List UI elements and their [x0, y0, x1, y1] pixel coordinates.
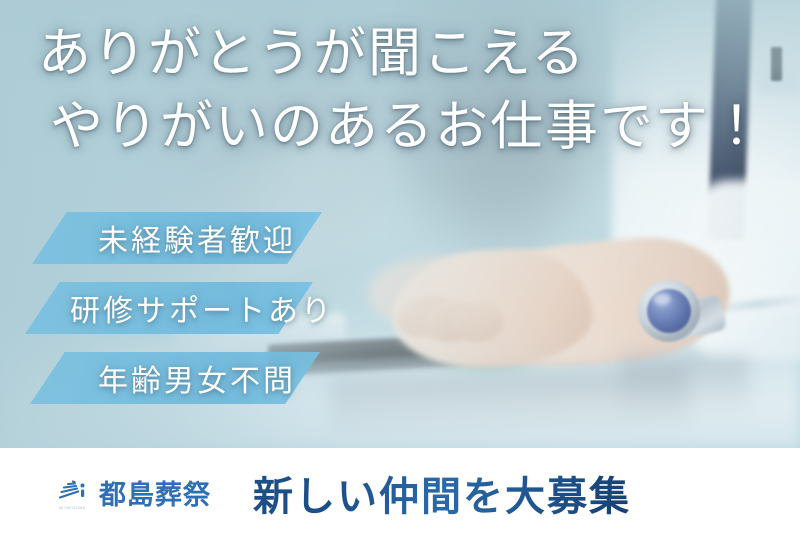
photo-cuff-fold [698, 294, 800, 314]
feature-ribbon-no-experience: 未経験者歓迎 [0, 212, 334, 264]
photo-finger-1 [392, 289, 459, 343]
photo-watch-glint [653, 293, 671, 305]
feature-ribbon-list: 未経験者歓迎 研修サポートあり 年齢男女不問 [0, 212, 334, 422]
photo-watch-face [647, 289, 691, 333]
photo-finger-3 [451, 300, 506, 344]
photo-hand-far [364, 251, 482, 332]
feature-ribbon-label: 年齢男女不問 [98, 356, 296, 400]
photo-finger-2 [421, 296, 481, 347]
photo-hand-near [389, 245, 595, 373]
headline-line-2: やりがいのあるお仕事です！ [38, 93, 758, 161]
headline-line-1: ありがとうが聞こえる [38, 20, 758, 88]
photo-desk-reflection-right [620, 356, 750, 418]
photo-watch-case [638, 280, 700, 342]
company-logo: MIYAKOJIMA 都島葬祭 [58, 473, 211, 512]
photo-shirt-sleeve [690, 180, 800, 360]
call-to-action-text: 新しい仲間を大募集 [253, 464, 631, 522]
fan-burst-icon: MIYAKOJIMA [58, 478, 92, 508]
feature-ribbon-label: 研修サポートあり [70, 286, 334, 330]
recruitment-banner: ありがとうが聞こえる やりがいのあるお仕事です！ 未経験者歓迎 研修サポートあり… [0, 0, 800, 537]
footer-bar: MIYAKOJIMA 都島葬祭 新しい仲間を大募集 [0, 448, 800, 537]
headline: ありがとうが聞こえる やりがいのあるお仕事です！ [38, 20, 758, 161]
photo-shirt-pocket [758, 52, 800, 94]
logo-subtext: MIYAKOJIMA [59, 506, 86, 510]
photo-desk-reflection [329, 366, 691, 448]
photo-watch-band [661, 294, 727, 342]
photo-screen-glow [430, 356, 550, 376]
feature-ribbon-label: 未経験者歓迎 [98, 216, 296, 260]
photo-forearm [435, 231, 735, 378]
feature-ribbon-any-age-gender: 年齢男女不問 [0, 352, 334, 404]
photo-pen [771, 47, 782, 81]
company-name: 都島葬祭 [99, 473, 211, 512]
feature-ribbon-training-support: 研修サポートあり [0, 282, 334, 334]
